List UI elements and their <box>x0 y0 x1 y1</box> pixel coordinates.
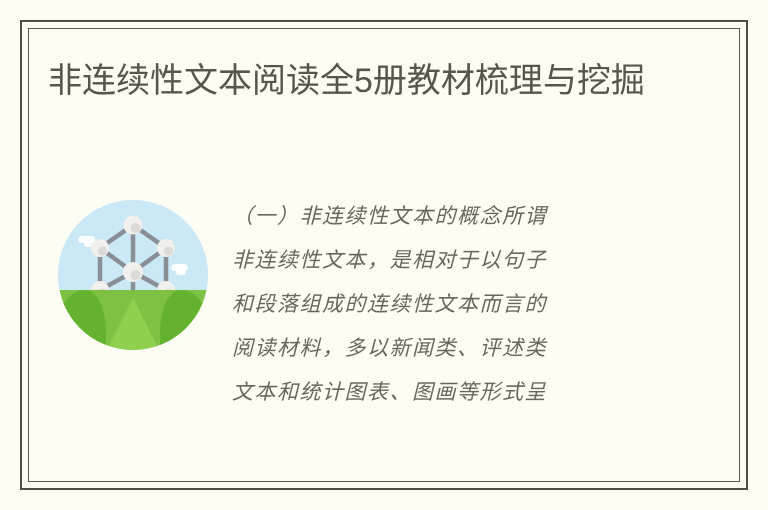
article-body: （一）非连续性文本的概念所谓 非连续性文本，是相对于以句子 和段落组成的连续性文… <box>218 190 708 414</box>
article-line: 阅读材料，多以新闻类、评述类 <box>232 326 708 370</box>
atomium-icon <box>58 200 208 350</box>
center-path <box>107 298 159 350</box>
content-row: （一）非连续性文本的概念所谓 非连续性文本，是相对于以句子 和段落组成的连续性文… <box>48 190 708 460</box>
illustration-container <box>48 190 218 350</box>
article-line: 文本和统计图表、图画等形式呈 <box>232 370 708 414</box>
article-line: 和段落组成的连续性文本而言的 <box>232 282 708 326</box>
article-line: （一）非连续性文本的概念所谓 <box>232 194 708 238</box>
page-title: 非连续性文本阅读全5册教材梳理与挖掘 <box>48 56 708 106</box>
article-line: 非连续性文本，是相对于以句子 <box>232 238 708 282</box>
article-card: 非连续性文本阅读全5册教材梳理与挖掘 <box>0 0 768 510</box>
